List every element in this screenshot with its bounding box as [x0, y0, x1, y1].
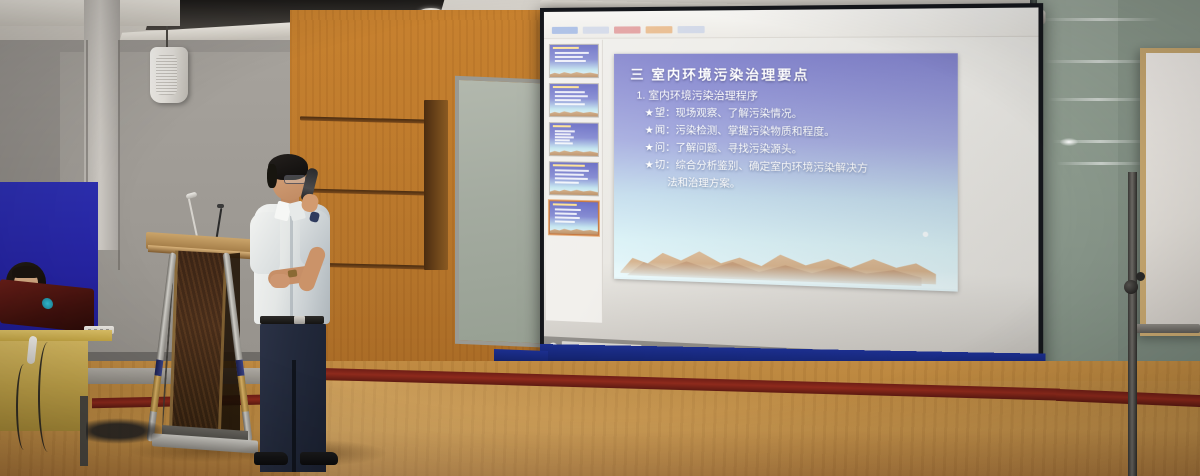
slide-bullet-text: 切：综合分析鉴别、确定室内环境污染解决方 — [655, 160, 868, 175]
whiteboard-marker-tray — [1136, 324, 1200, 333]
laptop-logo-icon — [42, 297, 53, 309]
laptop-lid — [0, 279, 94, 333]
slide-thumbnail[interactable] — [549, 122, 599, 157]
whiteboard-clamp — [1136, 272, 1145, 281]
slide-thumbnail-pane[interactable] — [546, 40, 603, 323]
whiteboard-adjust-knob[interactable] — [1124, 280, 1138, 294]
belt-buckle-icon — [294, 316, 305, 324]
glass-reflection — [1048, 98, 1148, 101]
ribbon-tab[interactable] — [583, 27, 609, 34]
slide-bullet-text: 望：现场观察、了解污染情况。 — [655, 108, 803, 121]
presenter — [248, 150, 368, 470]
ribbon-tab[interactable] — [552, 27, 578, 34]
wall-seam — [118, 40, 120, 270]
ribbon-tab[interactable] — [614, 26, 640, 33]
slide-bullet-text: 问：了解问题、寻找污染源头。 — [655, 143, 803, 157]
active-slide[interactable]: 三 室内环境污染治理要点 1. 室内环境污染治理程序 ★望：现场观察、了解污染情… — [614, 53, 958, 291]
powerpoint-ribbon — [544, 7, 1039, 38]
presenter-hand-left — [270, 274, 290, 288]
slide-bullet-text: 闻：污染检测、掌握污染物质和程度。 — [655, 125, 835, 138]
cable — [38, 342, 58, 452]
star-icon: ★ — [645, 142, 654, 153]
operator-table-top — [0, 330, 112, 341]
lecture-hall-photo: 三 室内环境污染治理要点 1. 室内环境污染治理程序 ★望：现场观察、了解污染情… — [0, 0, 1200, 476]
star-icon: ★ — [645, 160, 654, 171]
slide-thumbnail-selected[interactable] — [549, 200, 599, 236]
glass-light-glare — [1060, 138, 1078, 146]
presenter-leg-seam — [292, 360, 296, 472]
mobile-whiteboard[interactable] — [1140, 48, 1200, 336]
floor-cable-bundle — [86, 418, 166, 444]
ribbon-tab[interactable] — [646, 26, 673, 33]
presenter-shirt-placket — [290, 216, 293, 316]
microphone-head-icon-2 — [217, 204, 224, 208]
ribbon-tabs — [552, 26, 705, 34]
glass-reflection — [1044, 60, 1154, 63]
podium-wood-texture — [172, 251, 224, 438]
presenter-hair-side — [267, 164, 277, 188]
eyeglasses-icon — [284, 175, 306, 184]
slide-title: 三 室内环境污染治理要点 — [630, 64, 946, 84]
wristwatch-icon — [288, 269, 298, 277]
ribbon-tab[interactable] — [678, 26, 705, 33]
presenter-sleeve-left — [250, 212, 280, 274]
projection-screen: 三 室内环境污染治理要点 1. 室内环境污染治理程序 ★望：现场观察、了解污染情… — [540, 3, 1043, 386]
presenter-belt — [260, 316, 324, 324]
slide-thumbnail[interactable] — [549, 161, 599, 196]
slide-subtitle: 1. 室内环境污染治理程序 — [636, 87, 758, 103]
slide-thumbnail[interactable] — [549, 44, 599, 78]
operator-fringe — [12, 266, 40, 278]
wall-speaker — [150, 47, 188, 103]
wall-slot — [424, 100, 448, 270]
screen-surface: 三 室内环境污染治理要点 1. 室内环境污染治理程序 ★望：现场观察、了解污染情… — [544, 7, 1039, 381]
slide-mountain-graphic — [614, 228, 958, 289]
star-icon: ★ — [645, 125, 654, 136]
slide-bullet-list: ★望：现场观察、了解污染情况。 ★闻：污染检测、掌握污染物质和程度。 ★问：了解… — [645, 105, 942, 198]
podium-front-panel — [169, 251, 227, 439]
star-icon: ★ — [645, 108, 654, 119]
whiteboard-stand-post — [1128, 172, 1137, 476]
slide-thumbnail[interactable] — [549, 83, 599, 118]
glass-reflection — [1056, 162, 1146, 165]
presenter-shoe-left — [254, 452, 288, 465]
glass-reflection — [1040, 18, 1160, 21]
cable — [16, 364, 32, 450]
speaker-grille — [156, 55, 177, 95]
presenter-shoe-right — [300, 452, 338, 465]
